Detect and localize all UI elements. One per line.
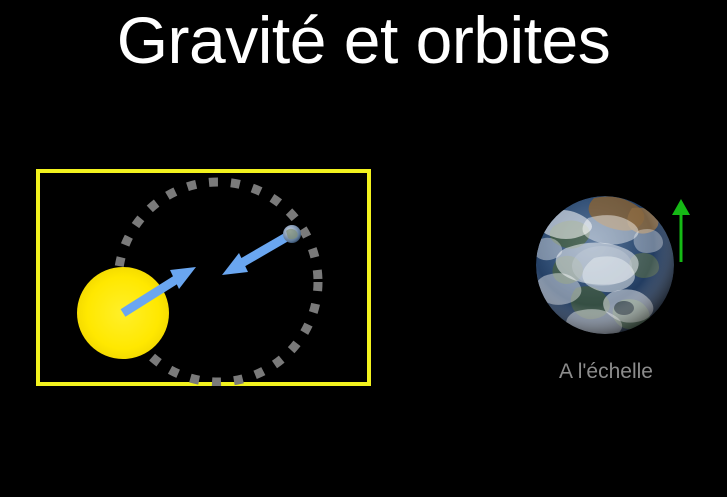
page-title: Gravité et orbites: [0, 6, 727, 75]
force-on-planet-arrow: [222, 235, 290, 275]
earth-photo: [536, 196, 674, 334]
scale-caption: A l'échelle: [476, 360, 727, 384]
slide-canvas: Gravité et orbites: [0, 0, 727, 497]
earth-terminator-shading: [536, 196, 674, 334]
scale-panel: A l'échelle: [460, 180, 720, 410]
scale-indicator-arrow: [667, 198, 695, 263]
model-diagram: [36, 169, 371, 386]
model-panel: Modèle: [36, 169, 371, 386]
earth-globe-graphic: [536, 196, 674, 334]
